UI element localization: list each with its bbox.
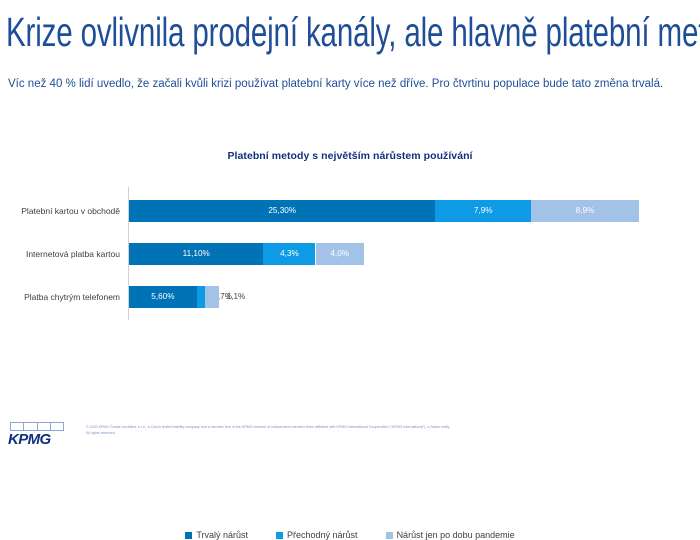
- footer-legal-text: © 2020 KPMG Česká republika, s.r.o., a C…: [86, 424, 686, 436]
- slide-footer: KPMG © 2020 KPMG Česká republika, s.r.o.…: [0, 420, 700, 450]
- legend-item[interactable]: Trvalý nárůst: [185, 530, 248, 540]
- legend-swatch-icon: [185, 532, 192, 539]
- page-title: Krize ovlivnila prodejní kanály, ale hla…: [6, 10, 501, 54]
- stacked-bar[interactable]: 25,30%7,9%8,9%: [129, 200, 639, 222]
- legend-swatch-icon: [276, 532, 283, 539]
- bar-segment[interactable]: 4,3%: [263, 243, 315, 265]
- bar-segment[interactable]: 25,30%: [129, 200, 435, 222]
- legend-label: Trvalý nárůst: [196, 530, 248, 540]
- kpmg-wordmark: KPMG: [8, 431, 51, 448]
- bar-value-label: 1,1%: [227, 286, 246, 308]
- bar-segment[interactable]: 5,60%: [129, 286, 197, 308]
- chart-region: Platební metody s největším nárůstem pou…: [0, 140, 700, 415]
- kpmg-logo: KPMG: [8, 422, 70, 448]
- stacked-bar[interactable]: 5,60%0,7%1,1%: [129, 286, 219, 308]
- legend-label: Nárůst jen po dobu pandemie: [397, 530, 515, 540]
- stacked-bar[interactable]: 11,10%4,3%4,0%: [129, 243, 364, 265]
- chart-legend: Trvalý nárůstPřechodný nárůstNárůst jen …: [0, 530, 700, 540]
- legend-label: Přechodný nárůst: [287, 530, 358, 540]
- bar-segment[interactable]: 11,10%: [129, 243, 263, 265]
- bar-segment[interactable]: 7,9%: [435, 200, 531, 222]
- footer-legal-line-2: All rights reserved.: [86, 430, 686, 436]
- bar-segment[interactable]: [197, 286, 205, 308]
- kpmg-logo-boxes-icon: [10, 422, 64, 431]
- bar-row: Platební kartou v obchodě25,30%7,9%8,9%: [0, 200, 700, 222]
- bar-segment[interactable]: [205, 286, 218, 308]
- bar-row: Platba chytrým telefonem5,60%0,7%1,1%: [0, 286, 700, 308]
- bar-row: Internetová platba kartou11,10%4,3%4,0%: [0, 243, 700, 265]
- legend-swatch-icon: [386, 532, 393, 539]
- chart-title: Platební metody s největším nárůstem pou…: [0, 150, 700, 162]
- bar-segment[interactable]: 4,0%: [316, 243, 364, 265]
- bar-segment[interactable]: 8,9%: [531, 200, 639, 222]
- category-label: Platební kartou v obchodě: [0, 200, 120, 222]
- category-label: Internetová platba kartou: [0, 243, 120, 265]
- page-subtitle: Víc než 40 % lidí uvedlo, že začali kvůl…: [8, 76, 684, 93]
- category-label: Platba chytrým telefonem: [0, 286, 120, 308]
- legend-item[interactable]: Přechodný nárůst: [276, 530, 358, 540]
- chart-plot-area: Platební kartou v obchodě25,30%7,9%8,9%I…: [0, 185, 700, 325]
- legend-item[interactable]: Nárůst jen po dobu pandemie: [386, 530, 515, 540]
